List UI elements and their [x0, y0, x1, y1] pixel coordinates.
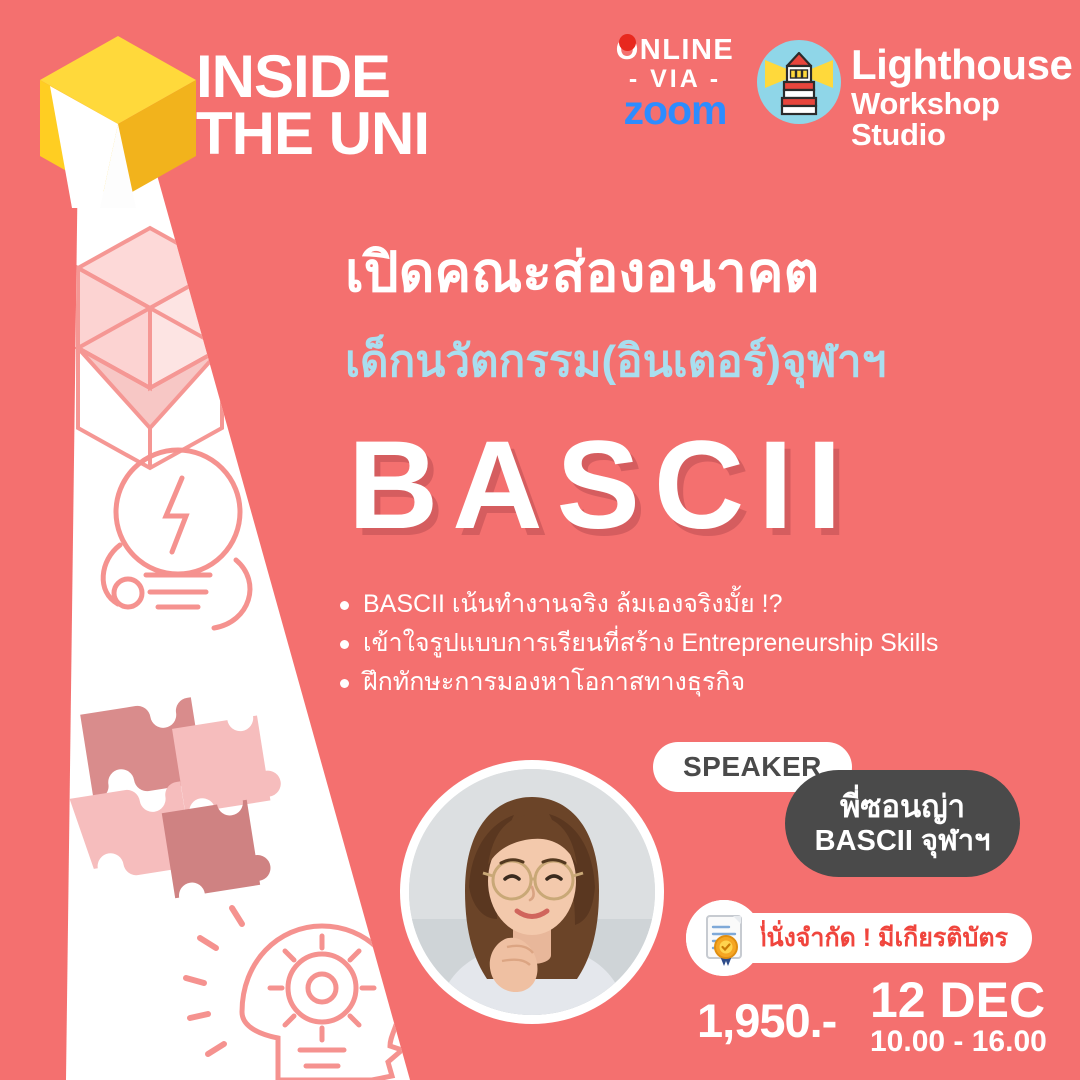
- speaker-name: พี่ซอนญ่า: [840, 789, 965, 825]
- lighthouse-wordmark: Lighthouse Workshop Studio: [851, 44, 1080, 150]
- lighthouse-icon: [757, 40, 841, 124]
- feature-bullet-list: BASCII เน้นทำงานจริง ล้มเองจริงมั้ย !? เ…: [340, 588, 1040, 705]
- event-date-block: 12 DEC 10.00 - 16.00: [870, 975, 1047, 1058]
- zoom-dot-icon: [619, 34, 636, 51]
- speaker-affiliation: BASCII จุฬาฯ: [815, 825, 991, 858]
- brand-title: INSIDE THE UNI: [196, 48, 429, 162]
- avatar: [400, 760, 664, 1024]
- page-title: เปิดคณะส่องอนาคต: [345, 243, 1045, 301]
- price-text: 1,950.-: [697, 993, 836, 1048]
- certificate-icon: [686, 900, 762, 976]
- brand-title-line2: THE UNI: [196, 105, 429, 162]
- online-via-zoom-badge: ONLINE - VIA - zoom: [600, 36, 750, 131]
- certificate-note-text: ที่นั่งจำกัด ! มีเกียรติบัตร: [750, 918, 1008, 958]
- list-item: ฝึกทักษะการมองหาโอกาสทางธุรกิจ: [340, 666, 1040, 699]
- brand-title-line1: INSIDE: [196, 48, 429, 105]
- list-item: BASCII เน้นทำงานจริง ล้มเองจริงมั้ย !?: [340, 588, 1040, 621]
- speaker-info-card: พี่ซอนญ่า BASCII จุฬาฯ: [785, 770, 1020, 877]
- bullet-text: BASCII เน้นทำงานจริง ล้มเองจริงมั้ย !?: [363, 588, 783, 621]
- speaker-portrait: [409, 769, 655, 1015]
- zoom-wordmark: zoom: [600, 90, 750, 131]
- lighthouse-tagline: Workshop Studio: [851, 88, 1080, 150]
- event-time: 10.00 - 16.00: [870, 1026, 1047, 1058]
- promo-poster: INSIDE THE UNI ONLINE - VIA - zoom Light…: [0, 0, 1080, 1080]
- page-subtitle: เด็กนวัตกรรม(อินเตอร์)จุฬาฯ: [345, 338, 1045, 386]
- lightbulb-lightning-icon: [103, 450, 250, 628]
- bullet-dot-icon: [340, 640, 349, 649]
- cube-logo-icon: [28, 28, 208, 208]
- event-date: 12 DEC: [870, 975, 1047, 1026]
- lighthouse-name: Lighthouse: [851, 44, 1080, 86]
- program-name: BASCII: [348, 423, 1048, 548]
- list-item: เข้าใจรูปแบบการเรียนที่สร้าง Entrepreneu…: [340, 627, 1040, 660]
- bullet-dot-icon: [340, 601, 349, 610]
- bullet-text: ฝึกทักษะการมองหาโอกาสทางธุรกิจ: [363, 666, 745, 699]
- bullet-text: เข้าใจรูปแบบการเรียนที่สร้าง Entrepreneu…: [363, 627, 938, 660]
- bullet-dot-icon: [340, 679, 349, 688]
- puzzle-pieces-icon: [70, 697, 284, 898]
- isometric-cube-wireframe-icon: [78, 228, 222, 468]
- head-gear-lightbulb-icon: [186, 908, 402, 1080]
